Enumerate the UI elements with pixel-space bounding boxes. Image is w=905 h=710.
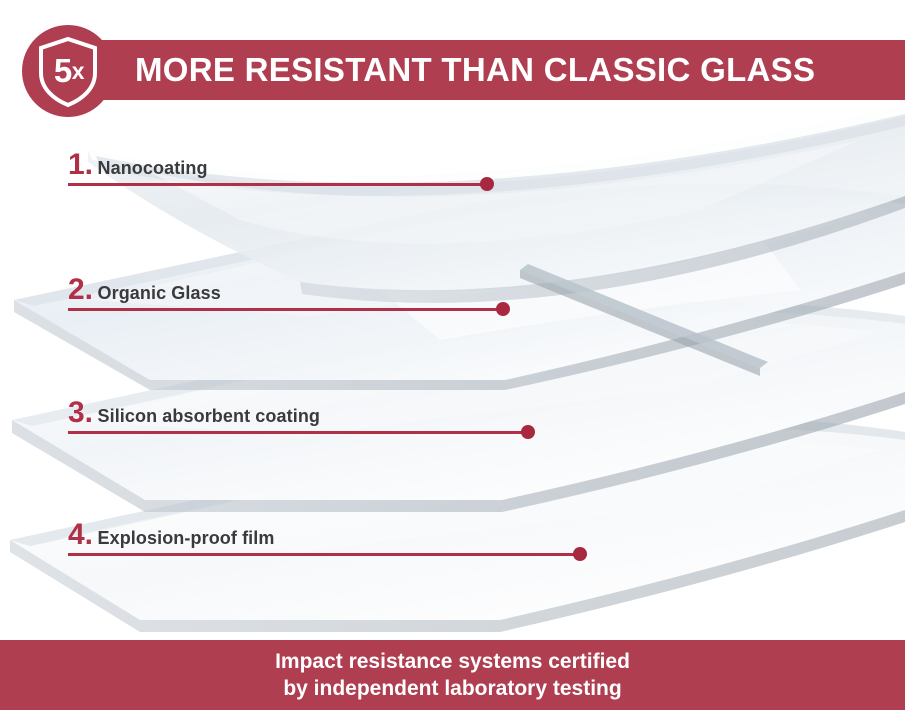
page-title: MORE RESISTANT THAN CLASSIC GLASS: [135, 40, 895, 100]
badge-number: 5: [54, 52, 72, 90]
glass-layers-illustration: [0, 100, 905, 640]
badge-suffix: x: [72, 58, 84, 85]
infographic-page: MORE RESISTANT THAN CLASSIC GLASS 5x: [0, 0, 905, 710]
footer-banner: Impact resistance systems certified by i…: [0, 640, 905, 710]
footer-line-2: by independent laboratory testing: [283, 675, 621, 702]
footer-line-1: Impact resistance systems certified: [275, 648, 630, 675]
